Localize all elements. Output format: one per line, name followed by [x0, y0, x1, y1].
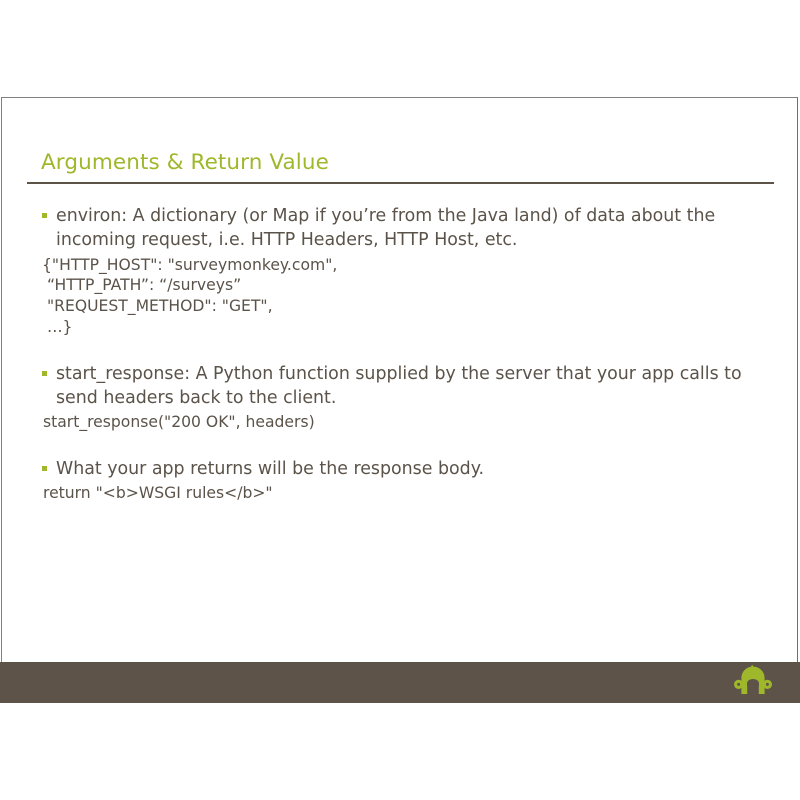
code-line: "REQUEST_METHOD": "GET", — [2, 296, 798, 317]
code-line: {"HTTP_HOST": "surveymonkey.com", — [2, 255, 798, 276]
content-block: What your app returns will be the respon… — [2, 457, 798, 504]
content-block: start_response: A Python function suppli… — [2, 362, 798, 433]
slide-content: environ: A dictionary (or Map if you’re … — [2, 204, 798, 504]
spacer — [2, 433, 798, 457]
bullet-item: start_response: A Python function suppli… — [2, 362, 798, 411]
bullet-item: What your app returns will be the respon… — [2, 457, 798, 481]
content-block: environ: A dictionary (or Map if you’re … — [2, 204, 798, 338]
spacer — [2, 338, 798, 362]
bullet-dot-icon — [42, 213, 47, 218]
code-line: …} — [2, 317, 798, 338]
bullet-dot-icon — [42, 466, 47, 471]
page-title: Arguments & Return Value — [41, 150, 329, 175]
surveymonkey-logo-icon — [734, 664, 772, 694]
slide-page: Arguments & Return Value environ: A dict… — [0, 0, 800, 800]
bullet-text: environ: A dictionary (or Map if you’re … — [56, 204, 769, 253]
code-line: return "<b>WSGI rules</b>" — [2, 483, 798, 504]
code-line: “HTTP_PATH”: “/surveys” — [2, 275, 798, 296]
bullet-text: What your app returns will be the respon… — [56, 457, 769, 481]
code-line: start_response("200 OK", headers) — [2, 412, 798, 433]
slide-frame: Arguments & Return Value environ: A dict… — [1, 97, 798, 703]
title-underline-rule — [27, 182, 774, 184]
bullet-dot-icon — [42, 371, 47, 376]
slide-footer-bar — [0, 662, 800, 703]
bullet-text: start_response: A Python function suppli… — [56, 362, 769, 411]
bullet-item: environ: A dictionary (or Map if you’re … — [2, 204, 798, 253]
